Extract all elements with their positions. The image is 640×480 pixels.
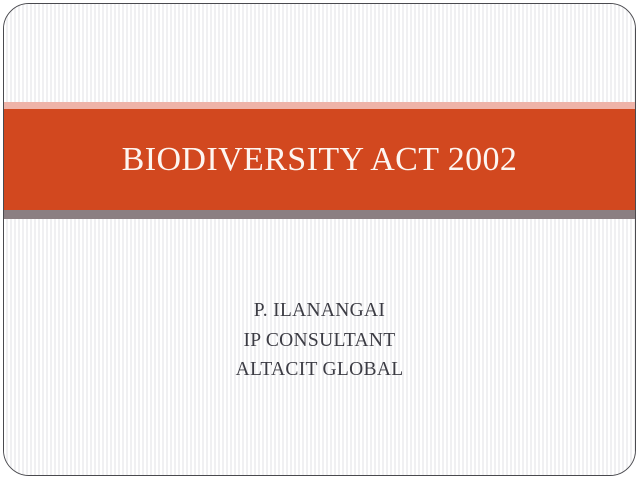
- banner-accent-bottom-stripe: [4, 210, 635, 219]
- slide-subtitle-block: P. ILANANGAI IP CONSULTANT ALTACIT GLOBA…: [4, 296, 635, 385]
- slide-frame-border: BIODIVERSITY ACT 2002 P. ILANANGAI IP CO…: [3, 3, 636, 476]
- slide-title: BIODIVERSITY ACT 2002: [4, 109, 635, 210]
- subtitle-line-organization: ALTACIT GLOBAL: [4, 355, 635, 385]
- subtitle-line-author: P. ILANANGAI: [4, 296, 635, 326]
- banner-accent-top-stripe: [4, 102, 635, 109]
- presentation-slide: BIODIVERSITY ACT 2002 P. ILANANGAI IP CO…: [0, 0, 640, 480]
- pinstripe-background: [4, 4, 635, 475]
- title-banner: BIODIVERSITY ACT 2002: [4, 98, 635, 220]
- subtitle-line-role: IP CONSULTANT: [4, 326, 635, 356]
